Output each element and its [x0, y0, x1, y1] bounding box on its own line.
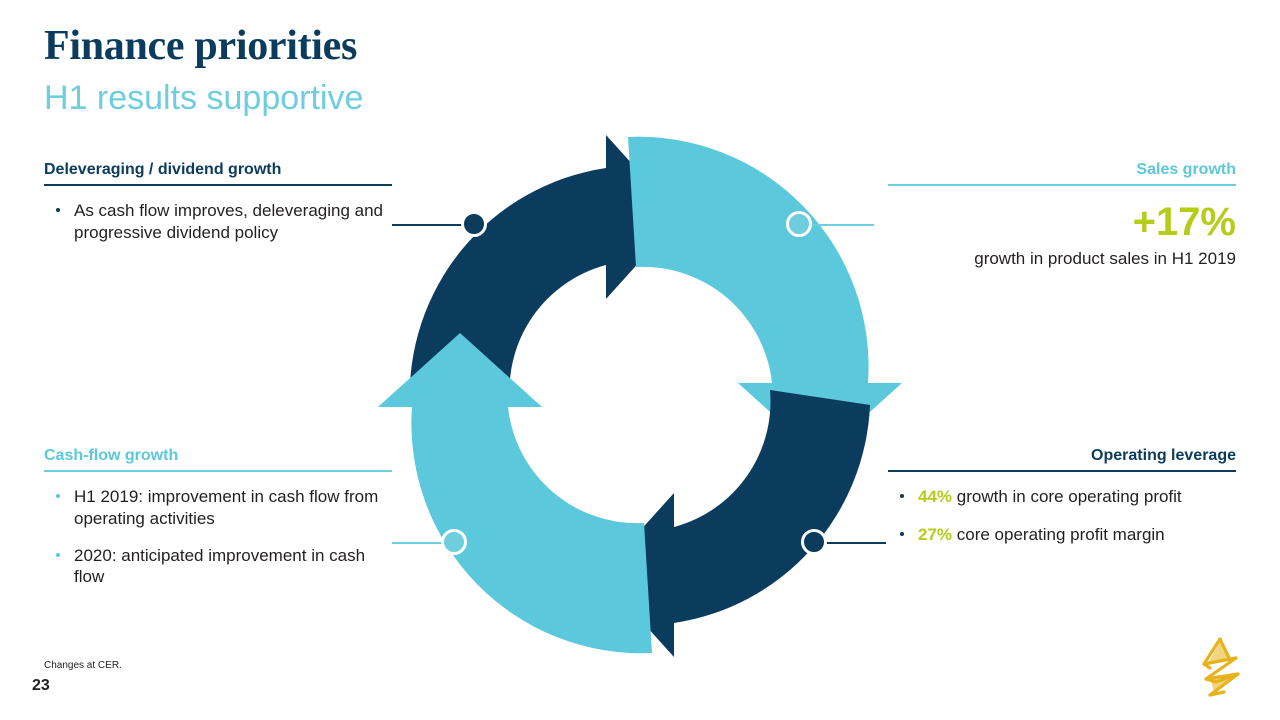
list-item: H1 2019: improvement in cash flow from o… — [44, 486, 392, 529]
panel-heading-cash-flow-growth: Cash-flow growth — [44, 446, 392, 470]
panel-operating-leverage: Operating leverage 44% growth in core op… — [888, 446, 1236, 545]
bullet-text: growth in core operating profit — [952, 487, 1182, 506]
bullet-text: H1 2019: improvement in cash flow from o… — [74, 487, 378, 527]
list-item: 2020: anticipated improvement in cash fl… — [44, 545, 392, 588]
bullet-text: 2020: anticipated improvement in cash fl… — [74, 546, 365, 586]
node-top-left — [461, 211, 487, 237]
panel-heading-operating-leverage: Operating leverage — [888, 446, 1236, 470]
panel-cash-flow-growth: Cash-flow growth H1 2019: improvement in… — [44, 446, 392, 588]
page-title: Finance priorities — [44, 24, 357, 68]
bottom-left-segment — [378, 333, 652, 653]
node-bottom-right — [801, 529, 827, 555]
stat-sales-growth-value: +17% — [888, 202, 1236, 242]
page-subtitle: H1 results supportive — [44, 80, 363, 117]
node-top-right — [786, 211, 812, 237]
bullet-dot-icon — [56, 494, 60, 498]
bullet-text: core operating profit margin — [952, 525, 1165, 544]
bullet-text: As cash flow improves, deleveraging and … — [74, 201, 383, 241]
panel-rule-sales-growth — [888, 184, 1236, 186]
bullet-highlight: 44% — [918, 487, 952, 506]
list-item: 27% core operating profit margin — [888, 524, 1236, 545]
cycle-diagram — [370, 125, 910, 665]
connector-line-top-right — [806, 224, 874, 226]
bullet-dot-icon — [900, 494, 904, 498]
bullet-list-deleveraging: As cash flow improves, deleveraging and … — [44, 200, 392, 243]
page-number: 23 — [32, 677, 50, 695]
node-bottom-left — [441, 529, 467, 555]
panel-deleveraging-dividend-growth: Deleveraging / dividend growth As cash f… — [44, 160, 392, 243]
astrazeneca-logo — [1190, 630, 1252, 702]
stat-sales-growth-caption: growth in product sales in H1 2019 — [888, 248, 1236, 270]
bullet-highlight: 27% — [918, 525, 952, 544]
panel-rule-cash-flow-growth — [44, 470, 392, 472]
bullet-dot-icon — [56, 208, 60, 212]
slide-canvas: Finance priorities H1 results supportive… — [0, 0, 1280, 720]
bullet-dot-icon — [900, 532, 904, 536]
panel-rule-operating-leverage — [888, 470, 1236, 472]
list-item: As cash flow improves, deleveraging and … — [44, 200, 392, 243]
list-item: 44% growth in core operating profit — [888, 486, 1236, 507]
bullet-dot-icon — [56, 553, 60, 557]
bullet-list-operating-leverage: 44% growth in core operating profit 27% … — [888, 486, 1236, 545]
panel-rule-deleveraging — [44, 184, 392, 186]
panel-heading-sales-growth: Sales growth — [888, 160, 1236, 184]
bullet-list-cash-flow: H1 2019: improvement in cash flow from o… — [44, 486, 392, 588]
connector-line-bottom-right — [818, 542, 886, 544]
panel-heading-deleveraging: Deleveraging / dividend growth — [44, 160, 392, 184]
panel-sales-growth: Sales growth +17% growth in product sale… — [888, 160, 1236, 270]
footnote: Changes at CER. — [44, 660, 122, 671]
